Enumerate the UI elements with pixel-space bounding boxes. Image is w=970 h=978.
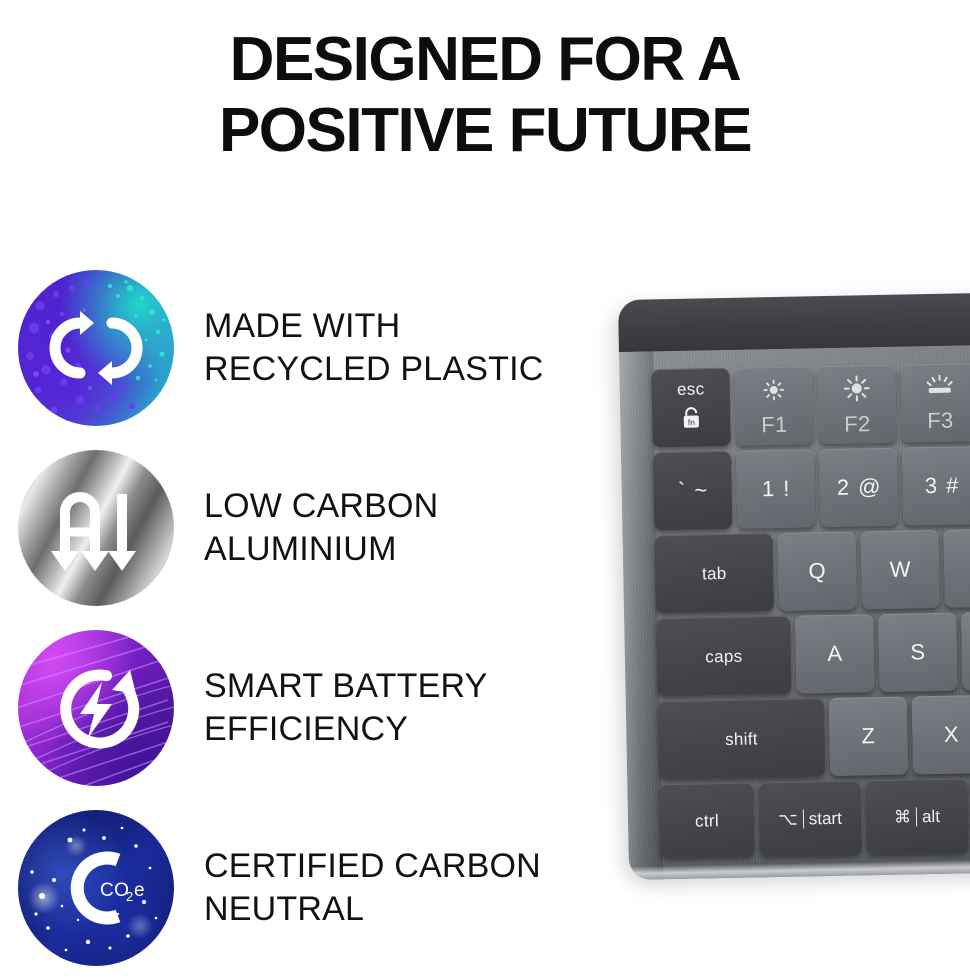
feature-label-smart-battery-efficiency: SMART BATTERY EFFICIENCY (204, 665, 487, 751)
feature-item-certified-carbon-neutral: CO 2 e CERTIFIED CARBON NEUTRAL (18, 798, 598, 978)
key-backtick[interactable]: ` ~ (653, 451, 732, 530)
smart-battery-efficiency-icon (18, 630, 174, 786)
key-tab[interactable]: tab (655, 533, 774, 613)
key-start-label: start (809, 809, 842, 827)
feature-label-recycled-plastic: MADE WITH RECYCLED PLASTIC (204, 305, 544, 391)
key-ctrl-label: ctrl (695, 812, 719, 829)
key-caps[interactable]: caps (656, 616, 791, 697)
feature-label-low-carbon-aluminium: LOW CARBON ALUMINIUM (204, 485, 438, 571)
keyboard-body: esc fn (619, 344, 970, 880)
key-e[interactable]: E (943, 528, 970, 607)
key-shift-label: shift (725, 730, 758, 748)
feature-label-certified-carbon-neutral: CERTIFIED CARBON NEUTRAL (204, 845, 541, 931)
key-a[interactable]: A (795, 614, 874, 693)
low-carbon-aluminium-icon (18, 450, 174, 606)
keyboard-backlight-icon (924, 374, 955, 404)
key-esc-label: esc (677, 380, 705, 398)
key-divider (916, 807, 917, 826)
key-q-label: Q (808, 560, 826, 582)
key-a-label: A (827, 643, 842, 665)
wireless-keyboard: esc fn (618, 292, 970, 880)
svg-text:fn: fn (688, 417, 696, 427)
key-2-primary: 2 (837, 477, 850, 499)
key-f2[interactable]: F2 (817, 365, 896, 444)
svg-text:2: 2 (126, 889, 133, 904)
key-1-primary: 1 (762, 478, 775, 500)
key-shift[interactable]: shift (658, 698, 825, 779)
feature-item-low-carbon-aluminium: LOW CARBON ALUMINIUM (18, 438, 598, 618)
certified-carbon-neutral-icon: CO 2 e (18, 810, 174, 966)
key-f3-label: F3 (927, 409, 954, 432)
key-w-label: W (889, 558, 910, 580)
svg-text:e: e (134, 880, 145, 901)
key-q[interactable]: Q (778, 531, 857, 610)
key-z[interactable]: Z (829, 697, 908, 776)
key-cmd-alt[interactable]: ⌘ alt (865, 778, 968, 854)
recycled-plastic-icon (18, 270, 174, 426)
key-f3[interactable]: F3 (900, 363, 970, 442)
key-caps-label: caps (705, 647, 742, 665)
key-2-secondary: @ (858, 476, 881, 498)
key-tab-label: tab (702, 564, 727, 581)
key-backtick-primary: ` (678, 480, 686, 502)
key-f1-label: F1 (761, 413, 788, 436)
key-s[interactable]: S (878, 613, 957, 692)
key-f1[interactable]: F1 (734, 366, 813, 445)
feature-list: MADE WITH RECYCLED PLASTIC (18, 258, 598, 978)
command-icon: ⌘ (894, 808, 911, 825)
key-2[interactable]: 2 @ (819, 448, 898, 527)
key-x[interactable]: X (912, 695, 970, 774)
key-option-start[interactable]: ⌥ start (758, 780, 861, 856)
svg-text:CO: CO (100, 880, 129, 901)
key-1[interactable]: 1 ! (736, 449, 815, 528)
brightness-down-icon (761, 376, 788, 407)
key-w[interactable]: W (860, 530, 939, 609)
key-divider (803, 809, 804, 828)
key-1-secondary: ! (783, 478, 790, 500)
page-title: DESIGNED FOR A POSITIVE FUTURE (0, 24, 970, 167)
feature-item-recycled-plastic: MADE WITH RECYCLED PLASTIC (18, 258, 598, 438)
key-3-secondary: # (946, 475, 959, 497)
key-esc[interactable]: esc fn (651, 368, 730, 447)
fn-lock-icon: fn (680, 406, 703, 435)
key-alt-label: alt (922, 807, 940, 824)
key-d[interactable]: D (961, 611, 970, 690)
key-3[interactable]: 3 # (902, 446, 970, 525)
key-f2-label: F2 (844, 413, 871, 436)
key-backtick-secondary: ~ (694, 479, 707, 501)
key-x-label: X (944, 724, 959, 746)
key-z-label: Z (861, 725, 875, 747)
feature-item-smart-battery-efficiency: SMART BATTERY EFFICIENCY (18, 618, 598, 798)
brightness-up-icon (842, 374, 871, 408)
key-3-primary: 3 (925, 475, 938, 497)
key-ctrl[interactable]: ctrl (659, 782, 754, 858)
key-s-label: S (910, 641, 925, 663)
option-icon: ⌥ (778, 810, 798, 827)
